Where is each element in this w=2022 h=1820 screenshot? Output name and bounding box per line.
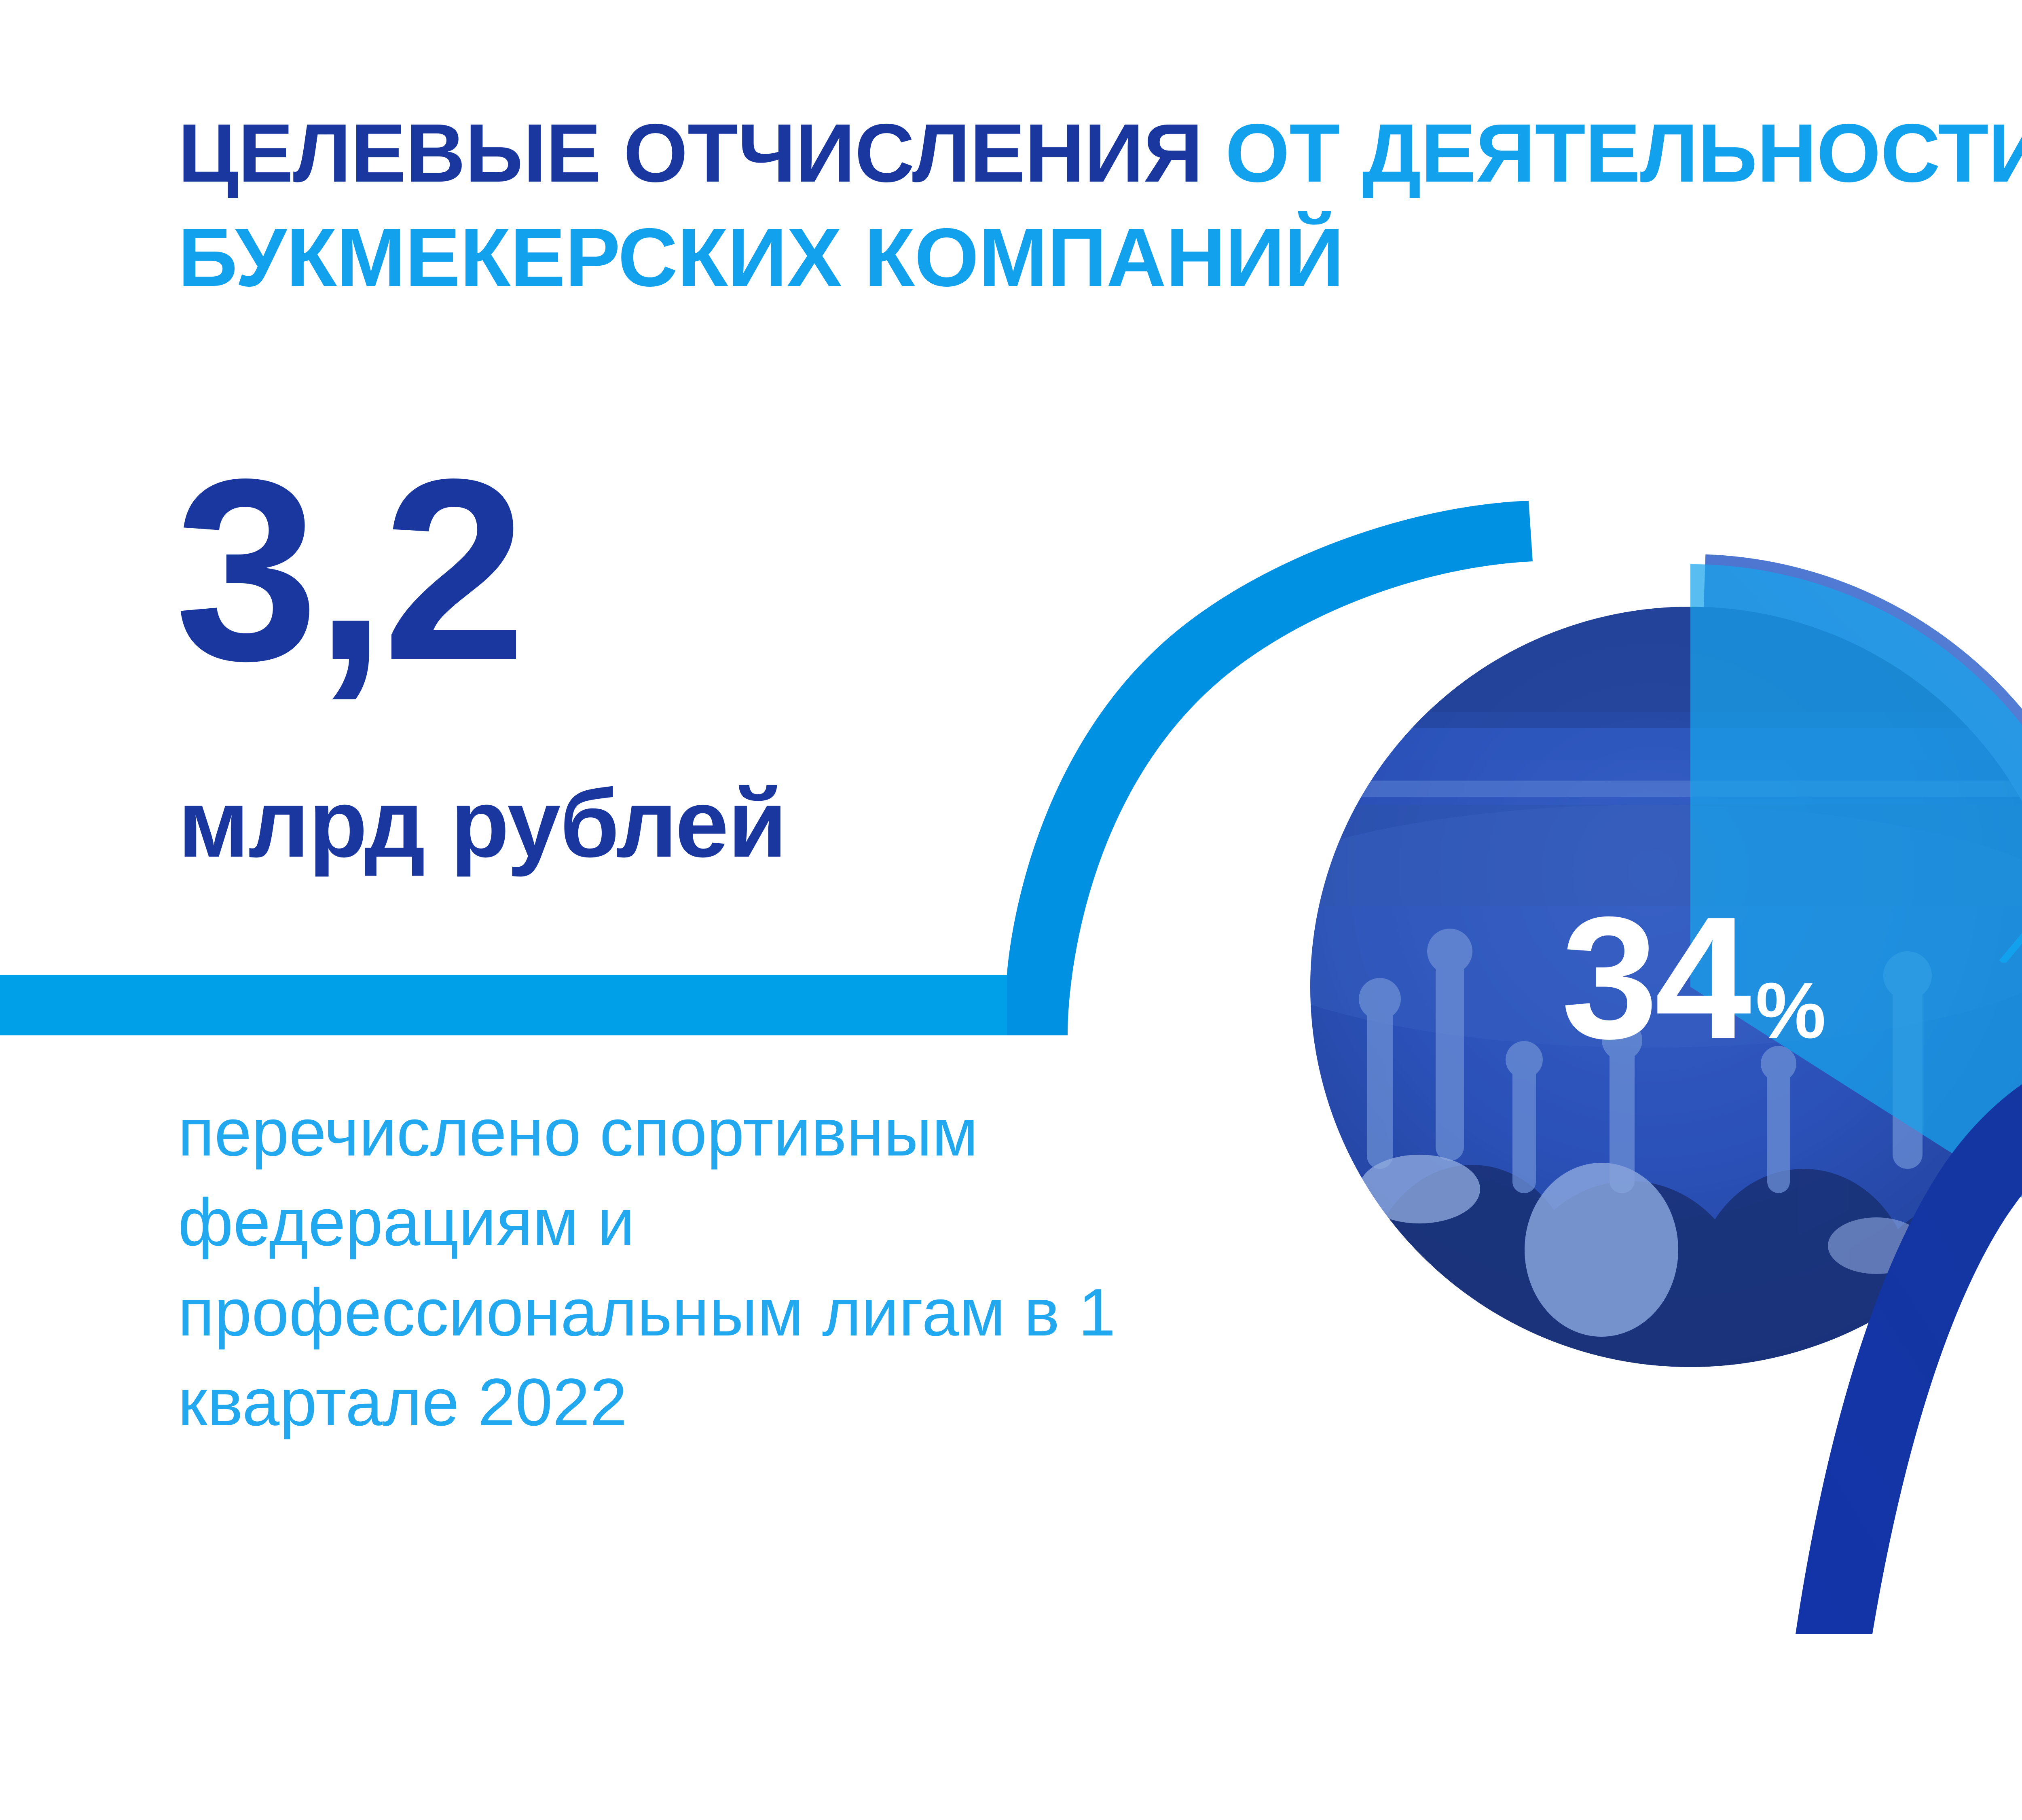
headline-metric-value: 3,2 — [175, 461, 522, 679]
page-title-part-2: ОТ ДЕЯТЕЛЬНОСТИ — [1225, 107, 2022, 199]
page-title-part-1: ЦЕЛЕВЫЕ ОТЧИСЛЕНИЯ — [178, 107, 1225, 199]
donut-pie-chart — [1246, 522, 2022, 1412]
headline-metric-caption: перечислено спортивным федерациям и проф… — [178, 1088, 1270, 1448]
infographic-canvas: ЦЕЛЕВЫЕ ОТЧИСЛЕНИЯ ОТ ДЕЯТЕЛЬНОСТИ БУКМЕ… — [0, 0, 2022, 1820]
headline-metric-unit: млрд рублей — [178, 768, 786, 879]
page-title-line-2: БУКМЕКЕРСКИХ КОМПАНИЙ — [178, 211, 1344, 304]
page-title: ЦЕЛЕВЫЕ ОТЧИСЛЕНИЯ ОТ ДЕЯТЕЛЬНОСТИ БУКМЕ… — [178, 101, 2022, 310]
